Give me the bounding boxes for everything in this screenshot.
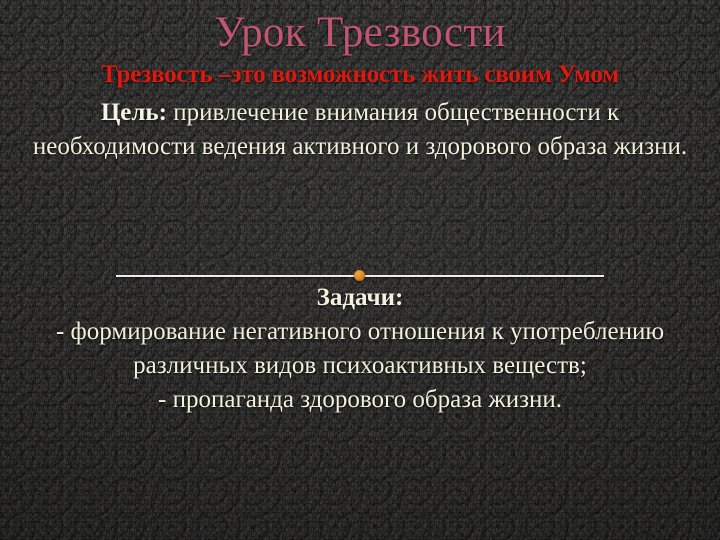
presentation-slide: Урок Трезвости Трезвость –это возможност… bbox=[0, 0, 720, 540]
divider-dot-icon bbox=[354, 270, 365, 281]
slide-content: Урок Трезвости Трезвость –это возможност… bbox=[0, 0, 720, 540]
goal-paragraph: Цель: привлечение внимания общественност… bbox=[18, 96, 702, 164]
goal-label: Цель: bbox=[101, 99, 167, 126]
section-divider bbox=[0, 270, 720, 282]
slide-subtitle: Трезвость –это возможность жить своим Ум… bbox=[0, 60, 720, 90]
tasks-heading: Задачи: bbox=[0, 282, 720, 314]
task-item: - пропаганда здорового образа жизни. bbox=[18, 383, 702, 417]
slide-title: Урок Трезвости bbox=[0, 8, 720, 58]
tasks-paragraph: - формирование негативного отношения к у… bbox=[18, 315, 702, 417]
task-item: - формирование негативного отношения к у… bbox=[18, 315, 702, 383]
